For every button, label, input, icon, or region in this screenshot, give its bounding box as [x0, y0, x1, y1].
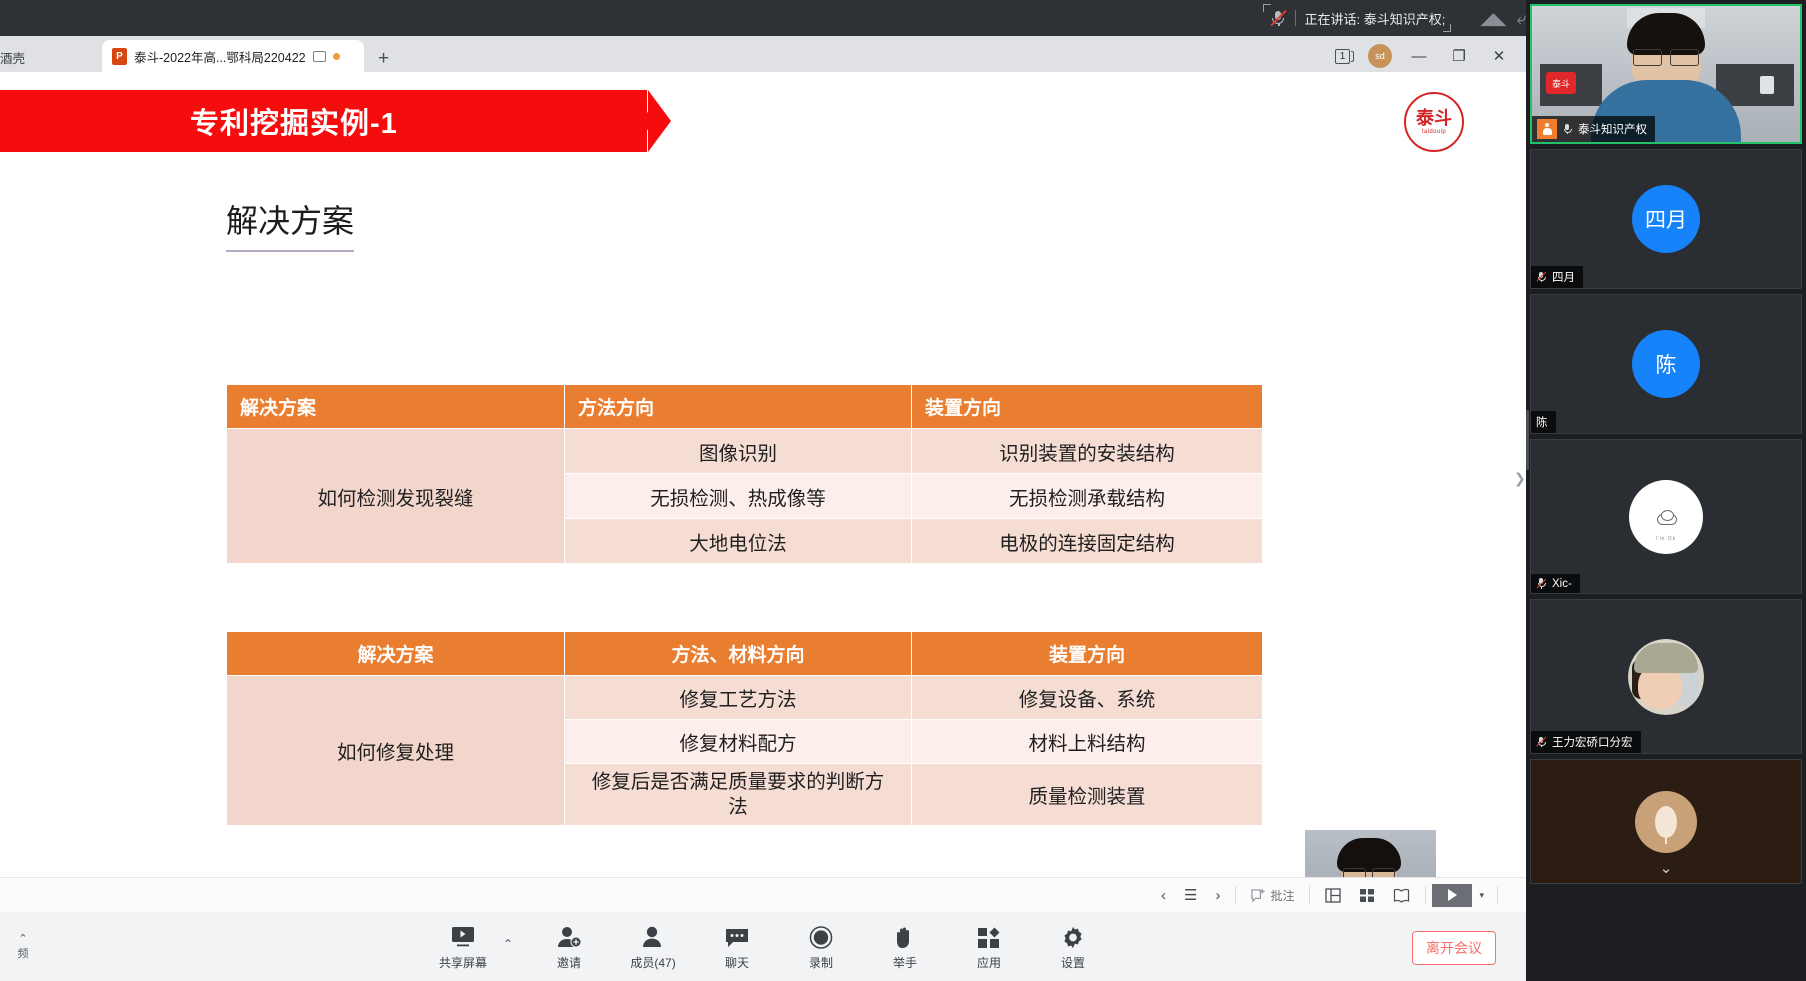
- reading-view-icon: [1393, 888, 1410, 903]
- cell-device-0: 识别装置的安装结构: [912, 429, 1263, 474]
- participant-name-bar: 陈: [1531, 411, 1556, 433]
- rail-scrollbar[interactable]: [1526, 410, 1529, 470]
- row-label: 如何检测发现裂缝: [227, 429, 565, 564]
- raise-hand-label: 举手: [893, 954, 917, 971]
- leave-meeting-button[interactable]: 离开会议: [1412, 931, 1496, 965]
- participant-name: 陈: [1536, 414, 1548, 430]
- col-header-2: 装置方向: [912, 385, 1263, 429]
- table-row: 如何修复处理 修复工艺方法 修复设备、系统: [227, 676, 1263, 720]
- table-header-row: 解决方案 方法方向 装置方向: [227, 385, 1263, 429]
- col-header-1: 方法方向: [565, 385, 912, 429]
- participant-name: Xic-: [1552, 578, 1572, 590]
- row-label: 如何修复处理: [227, 676, 565, 826]
- avatar[interactable]: sd: [1368, 44, 1392, 68]
- window-count-badge[interactable]: 1: [1335, 49, 1354, 64]
- cell-method-1: 无损检测、热成像等: [565, 474, 912, 519]
- participant-tile-siyue[interactable]: 四月 四月: [1530, 149, 1802, 289]
- meeting-bottom-toolbar: ⌃ 频 共享屏幕 ⌃: [0, 912, 1526, 981]
- annotate-button[interactable]: 批注: [1242, 887, 1303, 904]
- participant-name: 四月: [1552, 269, 1575, 285]
- settings-gear-icon: [1061, 923, 1085, 949]
- tab-title: 泰斗-2022年高...鄂科局220422: [134, 47, 306, 66]
- participant-name-bar: 王力宏硚口分宏: [1531, 731, 1641, 753]
- raise-hand-button[interactable]: 举手: [877, 923, 933, 971]
- collapse-caret-icon: ⌃: [18, 932, 27, 945]
- audio-collapse-group[interactable]: ⌃ 频: [0, 912, 46, 981]
- cell-device-1: 无损检测承载结构: [912, 474, 1263, 519]
- annotate-label: 批注: [1270, 887, 1294, 904]
- col-header-2: 装置方向: [912, 632, 1263, 676]
- grid-view-icon: [1359, 888, 1375, 903]
- play-icon: [1448, 889, 1457, 901]
- members-icon: [639, 923, 667, 949]
- participant-name: 泰斗知识产权: [1578, 121, 1647, 137]
- mic-muted-icon: [1536, 736, 1547, 749]
- avatar: [1628, 639, 1704, 715]
- repair-table: 解决方案 方法、材料方向 装置方向 如何修复处理 修复工艺方法 修复设备、系统 …: [226, 631, 1263, 826]
- close-button[interactable]: ✕: [1486, 47, 1512, 65]
- ppt-bottom-toolbar: ‹ ☰ › 批注: [0, 877, 1526, 912]
- avatar: I'm Ok: [1629, 480, 1703, 554]
- chat-button[interactable]: 聊天: [709, 923, 765, 971]
- speaking-label: 正在讲话: 泰斗知识产权;: [1304, 9, 1445, 28]
- grid-view-button[interactable]: [1350, 888, 1384, 903]
- chat-label: 聊天: [725, 954, 749, 971]
- logo-subtext: taidouip: [1422, 129, 1446, 135]
- participant-rail: 泰斗 ▲ 泰斗知识产权 四月 四月 陈 陈: [1526, 0, 1806, 981]
- participant-tile-xic[interactable]: I'm Ok Xic-: [1530, 439, 1802, 594]
- reading-view-button[interactable]: [1384, 888, 1419, 903]
- meeting-top-strip: 正在讲话: 泰斗知识产权; ◢◣ ⤶: [0, 0, 1526, 36]
- apps-label: 应用: [977, 954, 1001, 971]
- cell-method-0: 图像识别: [565, 429, 912, 474]
- record-icon: [809, 923, 833, 949]
- normal-view-button[interactable]: [1316, 888, 1350, 903]
- mic-muted-icon: [1269, 9, 1287, 27]
- company-logo: 泰斗 taidouip: [1404, 92, 1464, 152]
- meeting-app-window: 正在讲话: 泰斗知识产权; ◢◣ ⤶ 酒壳 P 泰斗-2022年高...鄂科局2…: [0, 0, 1806, 981]
- avatar: 四月: [1632, 185, 1700, 253]
- avatar: 陈: [1632, 330, 1700, 398]
- settings-label: 设置: [1061, 954, 1085, 971]
- share-screen-button[interactable]: 共享屏幕: [435, 923, 491, 971]
- chat-icon: [724, 923, 750, 949]
- participant-tile-speaker[interactable]: 泰斗 ▲ 泰斗知识产权: [1530, 4, 1802, 144]
- host-badge-icon: [1537, 119, 1557, 139]
- mic-icon: [1562, 123, 1573, 136]
- slideshow-options-caret[interactable]: ▾: [1472, 890, 1491, 901]
- slide-canvas: 专利挖掘实例-1 泰斗 taidouip 解决方案 解决方案 方法方向 装置方向…: [0, 72, 1526, 912]
- normal-view-icon: [1325, 888, 1341, 903]
- restore-button[interactable]: ❐: [1446, 47, 1472, 65]
- members-label: 成员(47): [630, 954, 675, 971]
- record-label: 录制: [809, 954, 833, 971]
- invite-label: 邀请: [557, 954, 581, 971]
- cloud-icon: [1657, 510, 1675, 524]
- share-screen-label: 共享屏幕: [439, 954, 487, 971]
- share-screen-icon: [448, 923, 478, 949]
- tab-inactive[interactable]: 酒壳: [0, 42, 88, 72]
- participant-name-bar: 泰斗知识产权: [1532, 116, 1655, 142]
- tab-active-presentation[interactable]: P 泰斗-2022年高...鄂科局220422: [102, 40, 364, 72]
- slide-heading: 解决方案: [226, 196, 354, 252]
- col-header-0: 解决方案: [227, 632, 565, 676]
- note-add-icon: [1251, 888, 1266, 903]
- cell-device-0: 修复设备、系统: [912, 676, 1263, 720]
- cell-device-2: 质量检测装置: [912, 764, 1263, 826]
- divider: [1295, 10, 1296, 26]
- cell-device-2: 电极的连接固定结构: [912, 519, 1263, 564]
- mic-muted-icon: [1536, 577, 1547, 590]
- record-button[interactable]: 录制: [793, 923, 849, 971]
- minimize-button[interactable]: —: [1406, 48, 1432, 65]
- apps-button[interactable]: 应用: [961, 923, 1017, 971]
- header-window-icons: ◢◣ ⤶: [1480, 10, 1526, 27]
- table-row: 如何检测发现裂缝 图像识别 识别装置的安装结构: [227, 429, 1263, 474]
- participant-tile-chen[interactable]: 陈 陈: [1530, 294, 1802, 434]
- invite-icon: [555, 923, 583, 949]
- minimize-icon[interactable]: ◢◣: [1480, 10, 1506, 27]
- mic-muted-icon: [1536, 271, 1547, 284]
- powerpoint-icon: P: [112, 48, 127, 65]
- share-options-caret[interactable]: ⌃: [503, 937, 513, 951]
- back-arrow-icon[interactable]: ⤶: [1516, 10, 1526, 27]
- detection-table: 解决方案 方法方向 装置方向 如何检测发现裂缝 图像识别 识别装置的安装结构 无…: [226, 384, 1263, 564]
- logo-text: 泰斗: [1416, 109, 1452, 127]
- start-slideshow-button[interactable]: [1432, 884, 1472, 907]
- cell-method-1: 修复材料配方: [565, 720, 912, 764]
- participant-name: 王力宏硚口分宏: [1552, 734, 1633, 750]
- col-header-0: 解决方案: [227, 385, 565, 429]
- background-logo: 泰斗: [1546, 72, 1576, 94]
- next-slide-button[interactable]: ›: [1206, 887, 1229, 904]
- prev-slide-button[interactable]: ‹: [1152, 887, 1175, 904]
- participant-name-bar: 四月: [1531, 266, 1583, 288]
- raise-hand-icon: [894, 923, 916, 949]
- cell-method-0: 修复工艺方法: [565, 676, 912, 720]
- settings-button[interactable]: 设置: [1045, 923, 1101, 971]
- cell-method-2: 修复后是否满足质量要求的判断方法: [565, 764, 912, 826]
- cell-device-1: 材料上料结构: [912, 720, 1263, 764]
- window-controls: 1 sd — ❐ ✕: [1335, 44, 1526, 72]
- slide-banner: 专利挖掘实例-1: [0, 90, 647, 152]
- participant-tile-coffee[interactable]: ⌄: [1530, 759, 1802, 884]
- browser-tab-bar: 酒壳 P 泰斗-2022年高...鄂科局220422 + 1 sd — ❐ ✕: [0, 36, 1526, 72]
- members-button[interactable]: 成员(47): [625, 923, 681, 971]
- unsaved-dot: [333, 53, 340, 60]
- cast-screen-icon[interactable]: [313, 51, 326, 62]
- banner-chevrons: [620, 90, 671, 152]
- table-header-row: 解决方案 方法、材料方向 装置方向: [227, 632, 1263, 676]
- panel-collapse-arrow[interactable]: ❯: [1514, 470, 1526, 487]
- audio-label: 频: [18, 945, 29, 961]
- speaking-indicator: 正在讲话: 泰斗知识产权;: [1262, 3, 1452, 33]
- participant-tile-wang[interactable]: 王力宏硚口分宏: [1530, 599, 1802, 754]
- participant-name-bar: Xic-: [1531, 574, 1580, 593]
- rail-scroll-down-caret[interactable]: ⌄: [1531, 859, 1801, 877]
- invite-button[interactable]: 邀请: [541, 923, 597, 971]
- meeting-action-items: 共享屏幕 ⌃ 邀请: [425, 923, 1101, 971]
- slide-list-button[interactable]: ☰: [1175, 886, 1206, 904]
- apps-icon: [977, 923, 1001, 949]
- cell-method-2: 大地电位法: [565, 519, 912, 564]
- col-header-1: 方法、材料方向: [565, 632, 912, 676]
- new-tab-button[interactable]: +: [378, 49, 389, 72]
- slide-banner-title: 专利挖掘实例-1: [190, 100, 398, 142]
